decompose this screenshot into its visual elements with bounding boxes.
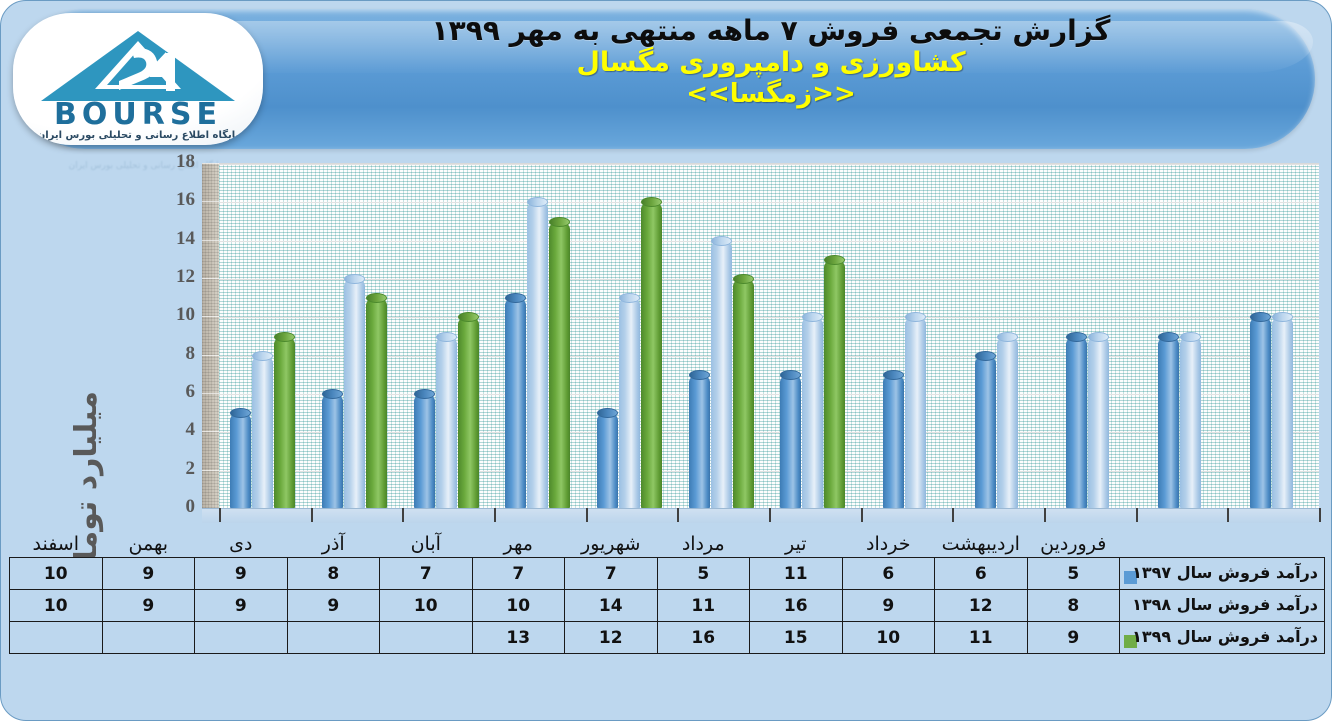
legend-item-1: درآمد فروش سال ۱۳۹۷ <box>1120 558 1325 590</box>
bar-3-5 <box>641 202 662 509</box>
bar-1-7 <box>780 375 801 509</box>
month-label-7: مهر <box>472 521 565 558</box>
cell-s1-m12: 10 <box>10 558 103 590</box>
month-label-3: خرداد <box>842 521 935 558</box>
bar-cap <box>997 332 1018 342</box>
bar-cap <box>883 370 904 380</box>
y-tick-label: 16 <box>149 189 195 211</box>
bar-cap <box>711 236 732 246</box>
month-label-2: اردیبهشت <box>935 521 1028 558</box>
bar-cap <box>780 370 801 380</box>
bar-cap <box>733 274 754 284</box>
cell-s2-m10: 9 <box>195 590 288 622</box>
bar-cap <box>689 370 710 380</box>
title-line-2: کشاورزی و دامپروری مگسال <box>271 47 1271 78</box>
cell-s3-m3: 10 <box>842 622 935 654</box>
bar-cap <box>230 408 251 418</box>
bar-3-2 <box>366 298 387 509</box>
bar-2-3 <box>436 337 457 510</box>
logo-subtitle: پایگاه اطلاع رسانی و تحلیلی بورس ایران <box>13 130 263 141</box>
gridline <box>219 279 1319 280</box>
bar-cap <box>824 255 845 265</box>
table-row: درآمد فروش سال ۱۳۹۸8129161114101099910 <box>10 590 1325 622</box>
cell-s1-m11: 9 <box>102 558 195 590</box>
bar-1-11 <box>1158 337 1179 510</box>
bar-cap <box>414 389 435 399</box>
title-line-1: گزارش تجمعی فروش ۷ ماهه منتهی به مهر ۱۳۹… <box>271 15 1271 47</box>
legend-label: درآمد فروش سال ۱۳۹۹ <box>1132 627 1318 646</box>
bar-2-9 <box>997 337 1018 510</box>
bar-cap <box>975 351 996 361</box>
bar-cap <box>802 312 823 322</box>
bar-1-12 <box>1250 317 1271 509</box>
bar-cap <box>1158 332 1179 342</box>
table-row: درآمد فروش سال ۱۳۹۹9111015161213 <box>10 622 1325 654</box>
cell-s3-m1: 9 <box>1027 622 1120 654</box>
x-tick <box>861 508 863 522</box>
bar-cap <box>1088 332 1109 342</box>
x-tick <box>677 508 679 522</box>
bar-cap <box>274 332 295 342</box>
y-tick-label: 4 <box>149 419 195 441</box>
bar-2-4 <box>527 202 548 509</box>
y-tick-label: 12 <box>149 266 195 288</box>
cell-s3-m6: 12 <box>565 622 658 654</box>
legend-header-spacer <box>1120 521 1325 558</box>
cell-s1-m1: 5 <box>1027 558 1120 590</box>
wall-gridline <box>202 431 219 432</box>
cell-s3-m10 <box>195 622 288 654</box>
bar-3-1 <box>274 337 295 510</box>
wall-gridline <box>202 163 219 164</box>
bar-1-1 <box>230 413 251 509</box>
chart-side-wall <box>202 163 220 508</box>
month-label-5: مرداد <box>657 521 750 558</box>
title-line-3: <<زمگسا>> <box>271 79 1271 109</box>
x-tick <box>402 508 404 522</box>
bar-cap <box>1066 332 1087 342</box>
month-label-12: اسفند <box>10 521 103 558</box>
wall-gridline <box>202 393 219 394</box>
bar-2-12 <box>1272 317 1293 509</box>
bar-cap <box>1272 312 1293 322</box>
legend-label: درآمد فروش سال ۱۳۹۷ <box>1132 563 1318 582</box>
cell-s2-m2: 12 <box>935 590 1028 622</box>
gridline <box>219 241 1319 242</box>
month-label-6: شهریور <box>565 521 658 558</box>
y-tick-label: 2 <box>149 458 195 480</box>
x-tick <box>586 508 588 522</box>
cell-s3-m7: 13 <box>472 622 565 654</box>
bar-3-4 <box>549 222 570 510</box>
bar-2-5 <box>619 298 640 509</box>
x-tick <box>769 508 771 522</box>
cell-s2-m4: 16 <box>750 590 843 622</box>
bar-1-8 <box>883 375 904 509</box>
bar-cap <box>366 293 387 303</box>
plot-area <box>219 163 1319 509</box>
bourse-triangle-icon <box>35 27 241 105</box>
logo-badge: BOURSE پایگاه اطلاع رسانی و تحلیلی بورس … <box>13 13 263 145</box>
y-tick-label: 6 <box>149 381 195 403</box>
cell-s2-m3: 9 <box>842 590 935 622</box>
cell-s3-m9 <box>287 622 380 654</box>
bar-cap <box>252 351 273 361</box>
report-title: گزارش تجمعی فروش ۷ ماهه منتهی به مهر ۱۳۹… <box>271 15 1271 109</box>
cell-s1-m5: 5 <box>657 558 750 590</box>
bar-2-8 <box>905 317 926 509</box>
bar-cap <box>641 197 662 207</box>
x-tick <box>311 508 313 522</box>
cell-s2-m11: 9 <box>102 590 195 622</box>
x-tick <box>1227 508 1229 522</box>
bar-2-1 <box>252 356 273 509</box>
y-tick-label: 18 <box>149 151 195 173</box>
month-label-10: دی <box>195 521 288 558</box>
wall-gridline <box>202 316 219 317</box>
cell-s2-m7: 10 <box>472 590 565 622</box>
cell-s2-m9: 9 <box>287 590 380 622</box>
cell-s1-m7: 7 <box>472 558 565 590</box>
bar-1-5 <box>597 413 618 509</box>
legend-label: درآمد فروش سال ۱۳۹۸ <box>1132 595 1318 614</box>
wall-gridline <box>202 201 219 202</box>
wall-gridline <box>202 278 219 279</box>
table-row: درآمد فروش سال ۱۳۹۷56611577789910 <box>10 558 1325 590</box>
x-tick <box>952 508 954 522</box>
bar-cap <box>458 312 479 322</box>
logo-wordmark: BOURSE <box>13 97 263 132</box>
month-label-4: تیر <box>750 521 843 558</box>
bar-cap <box>505 293 526 303</box>
cell-s1-m4: 11 <box>750 558 843 590</box>
bar-cap <box>1180 332 1201 342</box>
y-tick-label: 8 <box>149 343 195 365</box>
bar-2-7 <box>802 317 823 509</box>
bar-2-11 <box>1180 337 1201 510</box>
cell-s3-m5: 16 <box>657 622 750 654</box>
bar-cap <box>436 332 457 342</box>
bar-1-4 <box>505 298 526 509</box>
cell-s1-m2: 6 <box>935 558 1028 590</box>
bar-2-10 <box>1088 337 1109 510</box>
gridline <box>219 164 1319 165</box>
gridline <box>219 202 1319 203</box>
report-page: BOURSE پایگاه اطلاع رسانی و تحلیلی بورس … <box>0 0 1332 721</box>
bar-cap <box>619 293 640 303</box>
bar-cap <box>322 389 343 399</box>
bar-1-10 <box>1066 337 1087 510</box>
cell-s2-m6: 14 <box>565 590 658 622</box>
bar-3-6 <box>733 279 754 509</box>
bar-3-3 <box>458 317 479 509</box>
month-label-9: آذر <box>287 521 380 558</box>
bar-3-7 <box>824 260 845 509</box>
y-tick-label: 14 <box>149 228 195 250</box>
cell-s3-m11 <box>102 622 195 654</box>
bar-cap <box>527 197 548 207</box>
cell-s3-m8 <box>380 622 473 654</box>
bar-1-3 <box>414 394 435 509</box>
bar-cap <box>344 274 365 284</box>
month-label-8: آبان <box>380 521 473 558</box>
x-tick <box>1044 508 1046 522</box>
bar-chart: میلیارد تومان 024681012141618 <box>1 153 1332 521</box>
cell-s1-m6: 7 <box>565 558 658 590</box>
bar-1-2 <box>322 394 343 509</box>
bar-1-9 <box>975 356 996 509</box>
wall-gridline <box>202 240 219 241</box>
cell-s2-m5: 11 <box>657 590 750 622</box>
bar-cap <box>597 408 618 418</box>
y-tick-label: 0 <box>149 496 195 518</box>
cell-s1-m8: 7 <box>380 558 473 590</box>
cell-s3-m4: 15 <box>750 622 843 654</box>
wall-gridline <box>202 470 219 471</box>
cell-s2-m1: 8 <box>1027 590 1120 622</box>
y-tick-label: 10 <box>149 304 195 326</box>
legend-item-3: درآمد فروش سال ۱۳۹۹ <box>1120 622 1325 654</box>
cell-s3-m12 <box>10 622 103 654</box>
bar-cap <box>549 217 570 227</box>
cell-s1-m3: 6 <box>842 558 935 590</box>
x-tick <box>1319 508 1321 522</box>
month-label-11: بهمن <box>102 521 195 558</box>
cell-s2-m8: 10 <box>380 590 473 622</box>
cell-s1-m9: 8 <box>287 558 380 590</box>
wall-gridline <box>202 355 219 356</box>
x-tick <box>494 508 496 522</box>
bar-cap <box>1250 312 1271 322</box>
bar-1-6 <box>689 375 710 509</box>
data-table: فروردیناردیبهشتخردادتیرمردادشهریورمهرآبا… <box>9 521 1325 654</box>
bar-2-2 <box>344 279 365 509</box>
legend-item-2: درآمد فروش سال ۱۳۹۸ <box>1120 590 1325 622</box>
cell-s1-m10: 9 <box>195 558 288 590</box>
month-label-1: فروردین <box>1027 521 1120 558</box>
month-header-row: فروردیناردیبهشتخردادتیرمردادشهریورمهرآبا… <box>10 521 1325 558</box>
bar-2-6 <box>711 241 732 509</box>
cell-s3-m2: 11 <box>935 622 1028 654</box>
cell-s2-m12: 10 <box>10 590 103 622</box>
x-tick <box>219 508 221 522</box>
x-tick <box>1136 508 1138 522</box>
bar-cap <box>905 312 926 322</box>
